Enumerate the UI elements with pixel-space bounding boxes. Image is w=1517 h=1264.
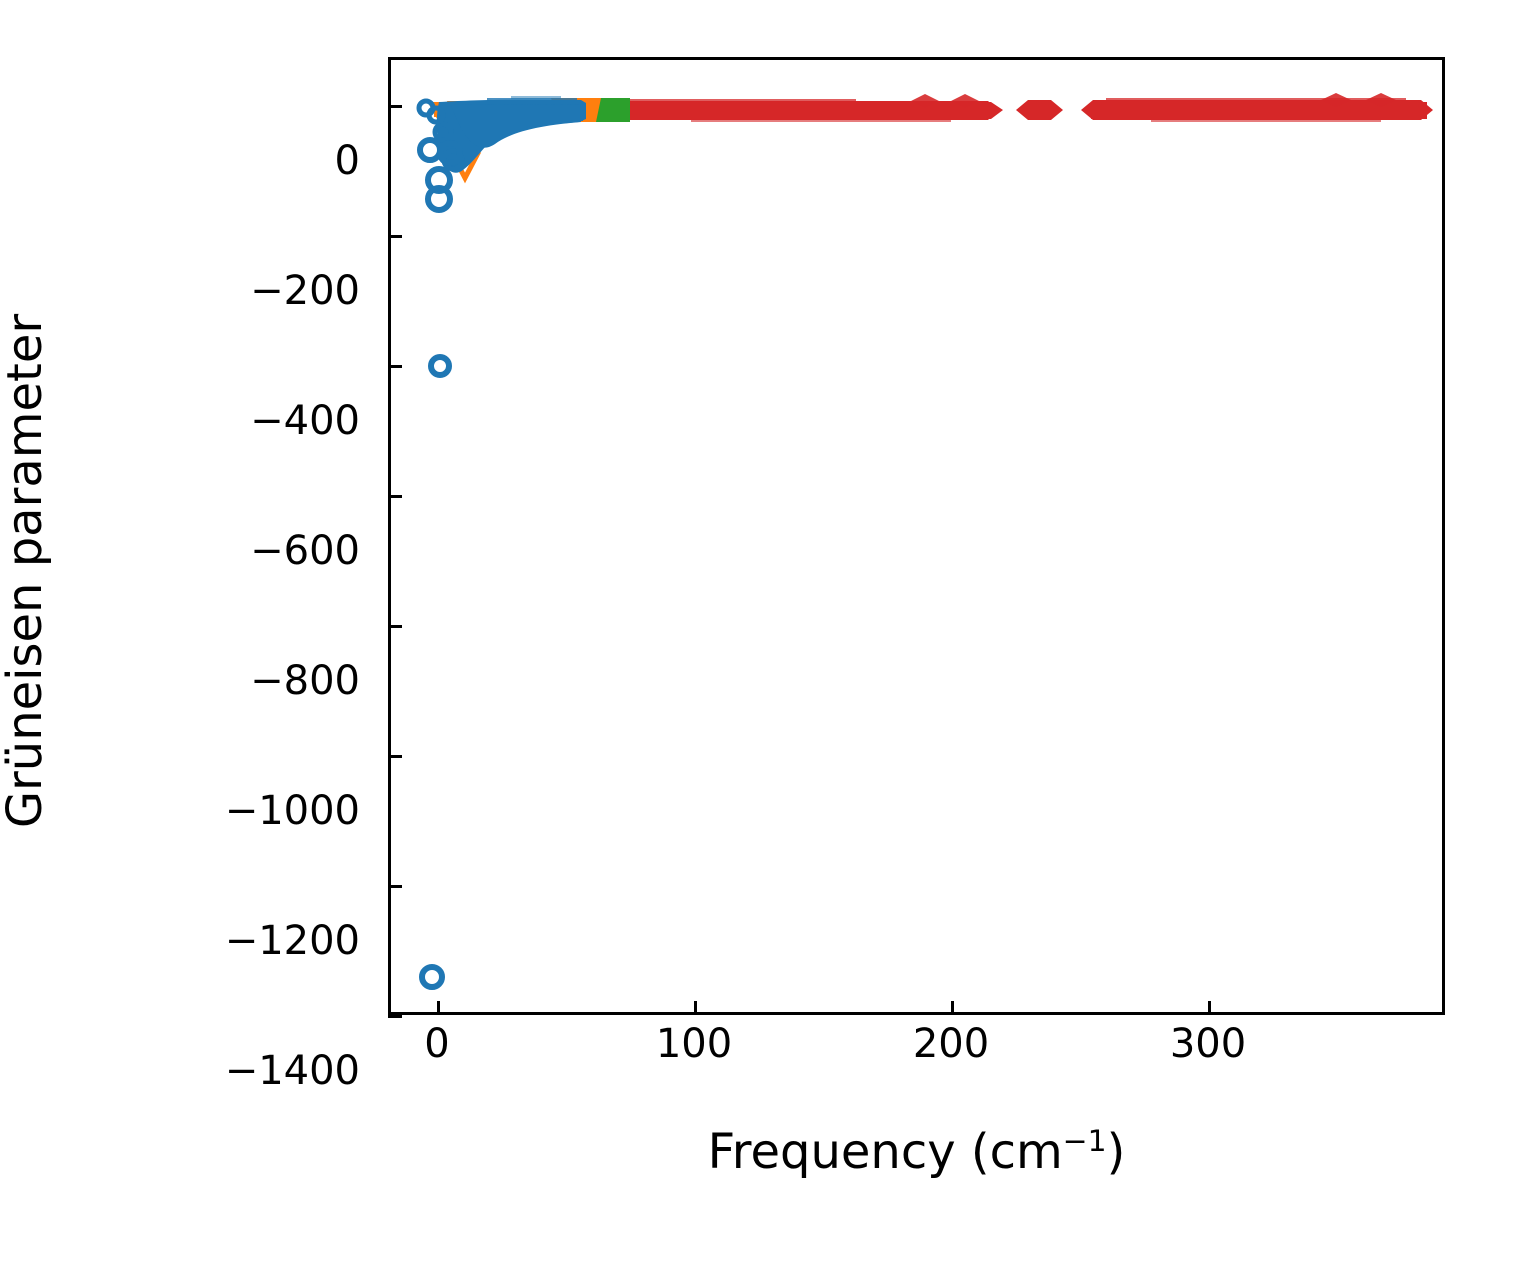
y-tick-label-600: −600 [250, 531, 360, 571]
y-tick-label-200: −200 [250, 271, 360, 311]
x-tick-label-0: 0 [424, 1024, 449, 1064]
y-tick-label-1000: −1000 [225, 791, 360, 831]
series-ta1 [419, 96, 586, 987]
y-tick-label-1200: −1200 [225, 921, 360, 961]
y-tick-label-1400: −1400 [225, 1051, 360, 1091]
y-tick-1400 [388, 1015, 402, 1018]
scatter-data-layer [391, 60, 1442, 1012]
y-tick-label-400: −400 [250, 401, 360, 441]
scatter-plot-area [391, 60, 1442, 1012]
figure: Grüneisen parameter 0 −200 −400 −600 −80… [0, 0, 1517, 1264]
x-axis-label-exponent: −1 [1063, 1124, 1107, 1159]
x-tick-label-300: 300 [1170, 1024, 1246, 1064]
y-tick-label-0: 0 [335, 141, 360, 181]
x-tick-label-200: 200 [913, 1024, 989, 1064]
outlier-ta1-a [420, 140, 440, 160]
x-axis-label-tail: ) [1107, 1124, 1126, 1180]
plot-axes: TA(1) TA(2) LA [388, 57, 1445, 1015]
x-axis-label: Frequency (cm−1) [388, 1126, 1445, 1177]
outlier-ta1-minus1340 [422, 967, 442, 987]
x-axis-label-main: Frequency (cm [708, 1124, 1063, 1180]
outlier-ta1-minus400 [431, 357, 449, 375]
y-axis-label: Grüneisen parameter [0, 92, 70, 1050]
x-tick-label-100: 100 [656, 1024, 732, 1064]
y-tick-label-800: −800 [250, 661, 360, 701]
